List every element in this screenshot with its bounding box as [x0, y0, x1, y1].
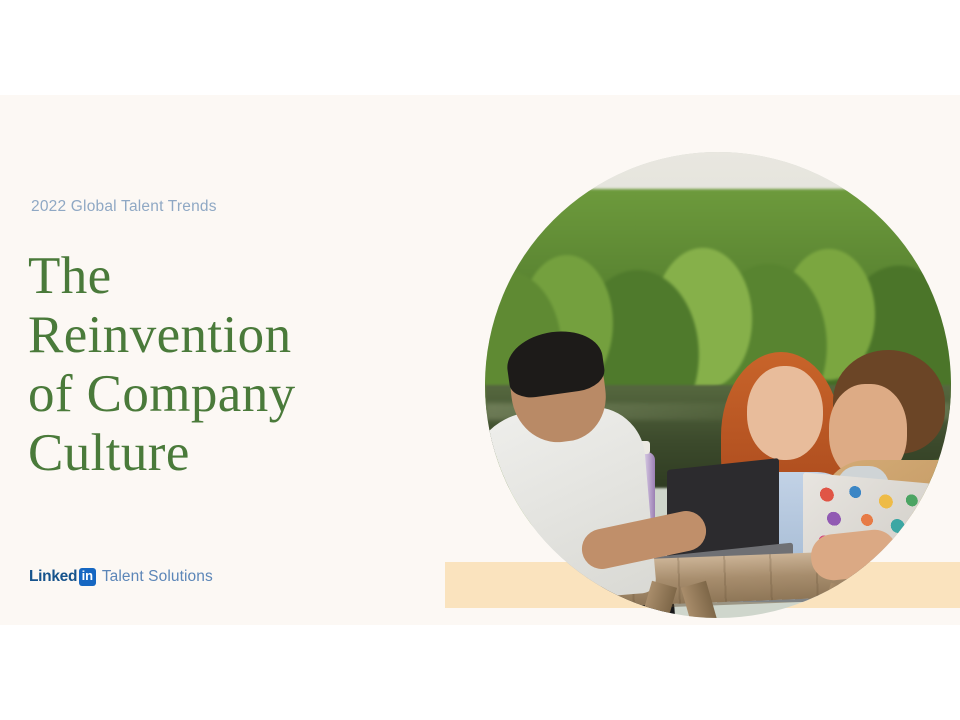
title-line-2: Reinvention	[28, 306, 296, 365]
slide-title: The Reinvention of Company Culture	[28, 247, 296, 483]
slide-eyebrow: 2022 Global Talent Trends	[31, 198, 217, 216]
title-line-4: Culture	[28, 424, 296, 483]
letterbox-top	[0, 0, 960, 95]
hero-photo-circle	[485, 152, 951, 618]
photo-person-center-head	[747, 366, 823, 460]
linkedin-talent-solutions-logo: Linked in Talent Solutions	[29, 568, 213, 586]
photo-scene	[485, 152, 951, 618]
presentation-slide: 2022 Global Talent Trends The Reinventio…	[0, 95, 960, 625]
linkedin-in-badge-icon: in	[79, 568, 96, 586]
letterbox-bottom	[0, 625, 960, 720]
title-line-1: The	[28, 247, 296, 306]
talent-solutions-label: Talent Solutions	[102, 568, 213, 586]
title-line-3: of Company	[28, 365, 296, 424]
slide-stage: 2022 Global Talent Trends The Reinventio…	[0, 0, 960, 720]
linkedin-wordmark: Linked	[29, 568, 77, 586]
